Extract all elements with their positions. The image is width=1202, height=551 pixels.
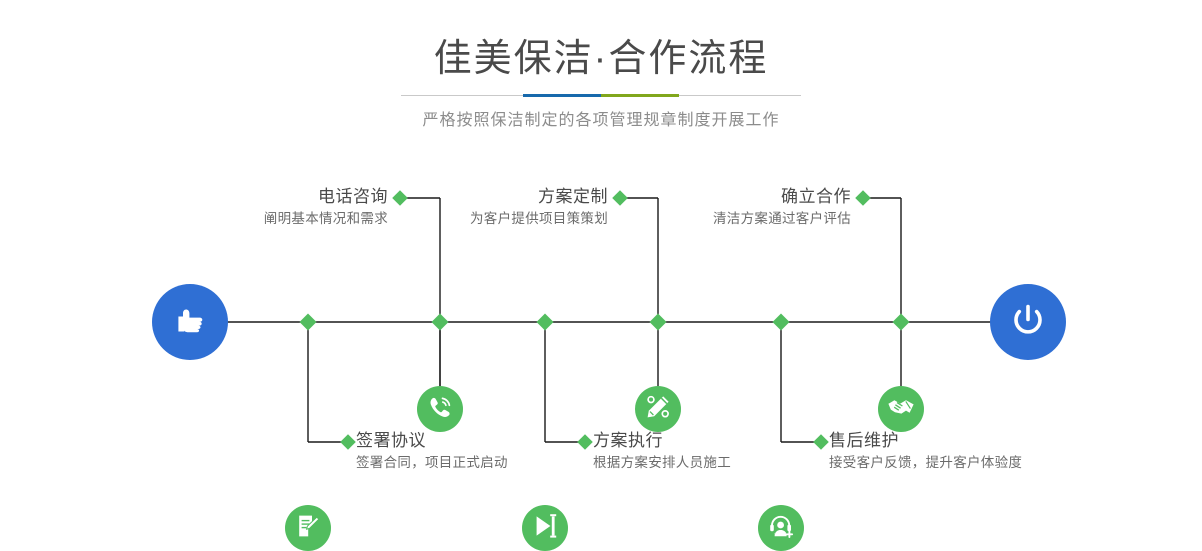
diamond-step-1-axis (432, 314, 449, 331)
power-icon (1007, 299, 1049, 346)
diamond-step-3-label (612, 190, 628, 206)
step-node-5-icon-circle[interactable] (878, 386, 924, 432)
diamond-step-3-axis (650, 314, 667, 331)
step-desc-4: 根据方案安排人员施工 (593, 452, 731, 474)
process-timeline: 电话咨询 阐明基本情况和需求 方案定制 为客户提供项目策策划 确立合作 清洁方案… (0, 150, 1202, 502)
step-title-4: 方案执行 (593, 430, 731, 452)
page-header: 佳美保洁·合作流程 严格按照保洁制定的各项管理规章制度开展工作 (0, 0, 1202, 150)
step-title-5: 确立合作 (713, 186, 851, 208)
step-node-3-icon-circle[interactable] (635, 386, 681, 432)
play-next-icon (531, 512, 559, 545)
divider-bar-green (601, 94, 679, 97)
diamond-step-1-label (392, 190, 408, 206)
step-label-6: 售后维护 接受客户反馈，提升客户体验度 (829, 430, 1022, 474)
diamond-step-5-axis (893, 314, 910, 331)
contract-edit-icon (294, 512, 322, 545)
step-title-3: 方案定制 (470, 186, 608, 208)
diamond-step-2-label (340, 434, 356, 450)
step-desc-2: 签署合同，项目正式启动 (356, 452, 508, 474)
page-subtitle: 严格按照保洁制定的各项管理规章制度开展工作 (0, 106, 1202, 130)
divider-bar-blue (523, 94, 601, 97)
step-node-4-icon-circle[interactable] (522, 505, 568, 551)
diamond-step-6-label (813, 434, 829, 450)
step-desc-3: 为客户提供项目策策划 (470, 208, 608, 230)
handshake-icon (886, 392, 916, 427)
step-title-1: 电话咨询 (264, 186, 388, 208)
divider-line-right (679, 95, 801, 96)
page-title: 佳美保洁·合作流程 (0, 36, 1202, 82)
pointing-hand-icon (170, 300, 210, 345)
step-label-5: 确立合作 清洁方案通过客户评估 (713, 186, 851, 230)
timeline-end-node[interactable] (990, 284, 1066, 360)
title-divider (401, 94, 801, 97)
timeline-start-node[interactable] (152, 284, 228, 360)
step-node-1-icon-circle[interactable] (417, 386, 463, 432)
step-label-1: 电话咨询 阐明基本情况和需求 (264, 186, 388, 230)
diamond-step-4-axis (537, 314, 554, 331)
diamond-step-4-label (577, 434, 593, 450)
step-label-2: 签署协议 签署合同，项目正式启动 (356, 430, 508, 474)
diamond-step-6-axis (773, 314, 790, 331)
step-title-2: 签署协议 (356, 430, 508, 452)
step-label-4: 方案执行 根据方案安排人员施工 (593, 430, 731, 474)
headset-support-icon (767, 512, 795, 545)
step-label-3: 方案定制 为客户提供项目策策划 (470, 186, 608, 230)
pencil-design-icon (644, 393, 672, 426)
step-node-2-icon-circle[interactable] (285, 505, 331, 551)
step-desc-6: 接受客户反馈，提升客户体验度 (829, 452, 1022, 474)
diamond-step-2-axis (300, 314, 317, 331)
divider-line-left (401, 95, 523, 96)
phone-call-icon (426, 393, 454, 426)
step-desc-5: 清洁方案通过客户评估 (713, 208, 851, 230)
diamond-step-5-label (855, 190, 871, 206)
step-node-6-icon-circle[interactable] (758, 505, 804, 551)
step-desc-1: 阐明基本情况和需求 (264, 208, 388, 230)
step-title-6: 售后维护 (829, 430, 1022, 452)
